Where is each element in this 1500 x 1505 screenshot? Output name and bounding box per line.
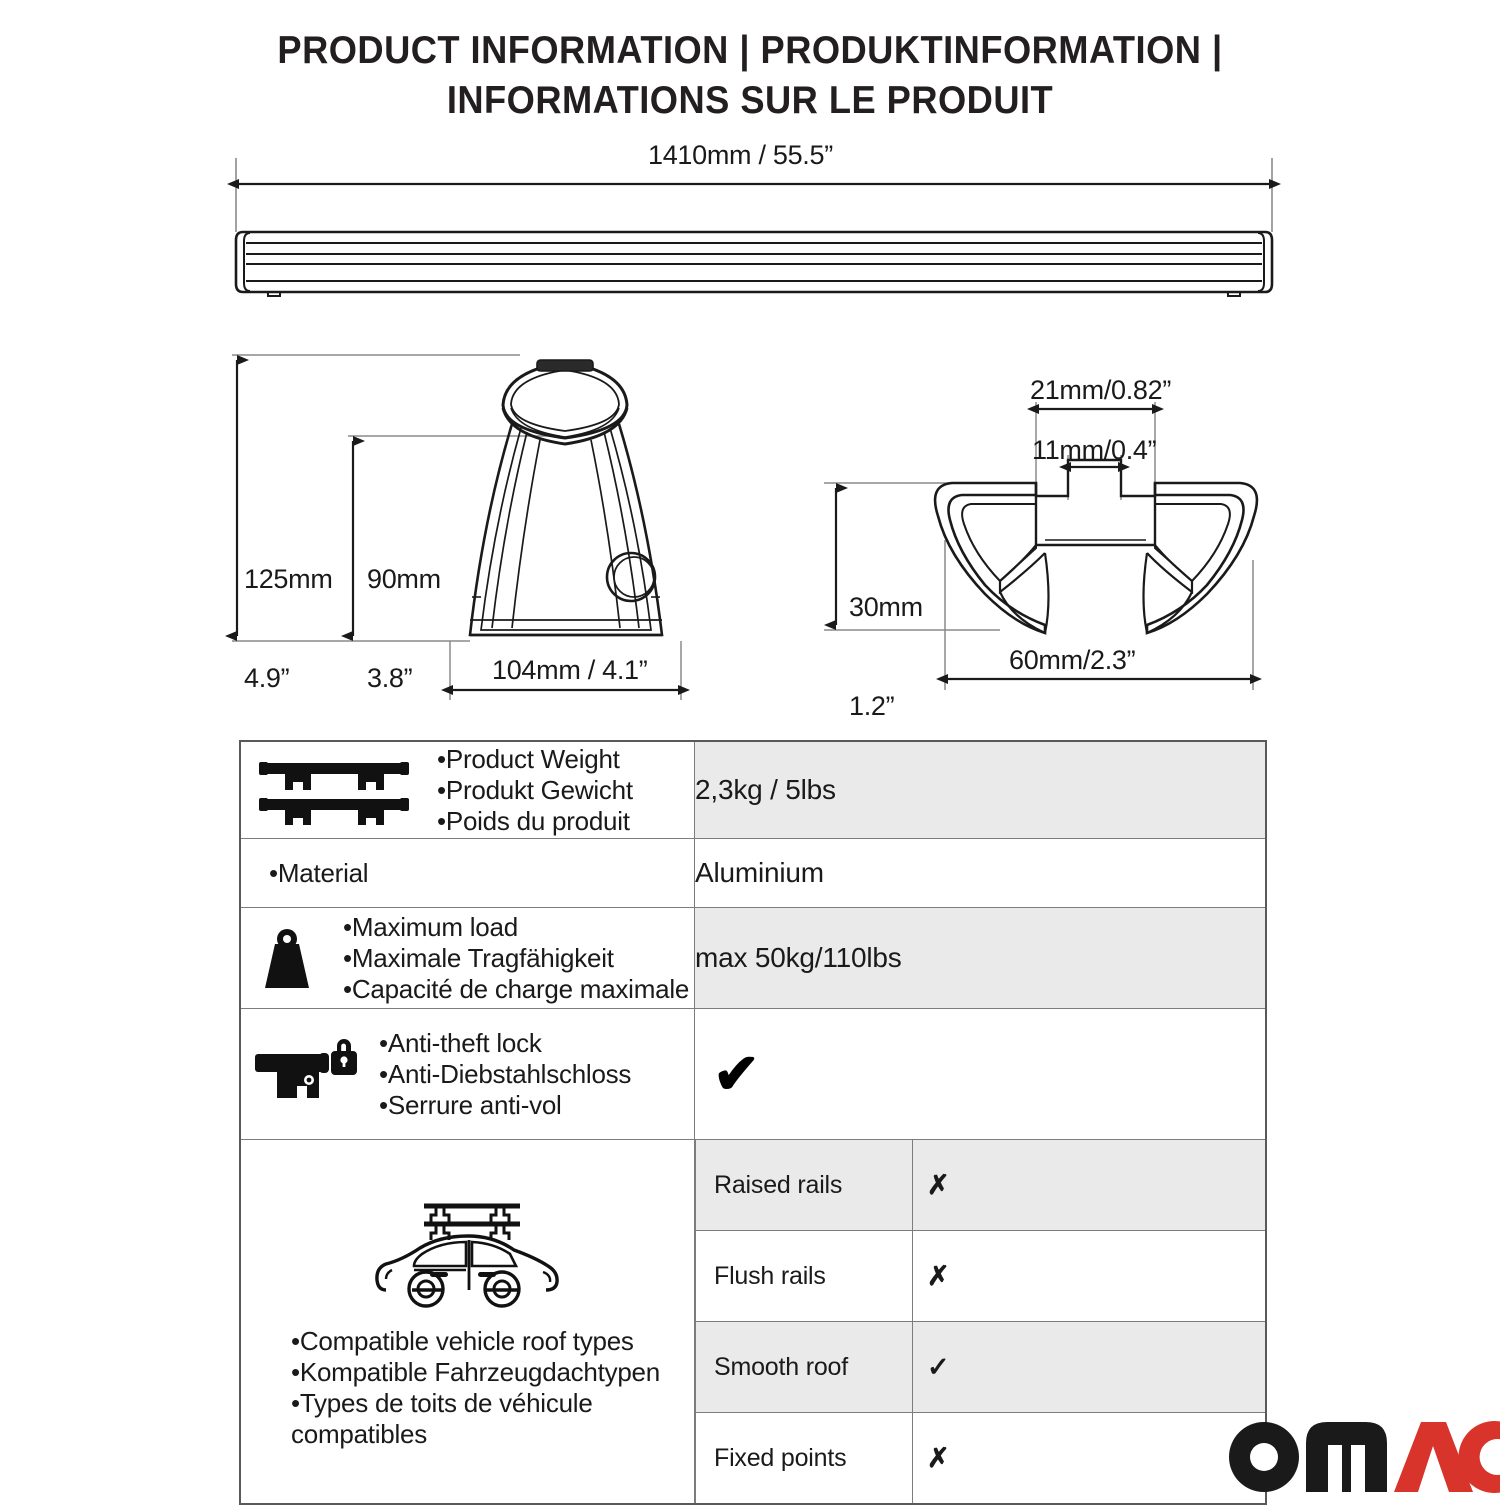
product-information-sheet: PRODUCT INFORMATION | PRODUKTINFORMATION…	[0, 0, 1500, 1500]
roof-type-name: Raised rails	[696, 1140, 913, 1231]
weight-value-cell: 2,3kg / 5lbs	[695, 741, 1267, 839]
profile-height-mm: 30mm	[849, 591, 923, 624]
table-row: •Maximum load •Maximale Tragfähigkeit •C…	[240, 908, 1266, 1009]
weight-label-de: •Produkt Gewicht	[437, 775, 633, 806]
maxload-label-de: •Maximale Tragfähigkeit	[343, 943, 689, 974]
row-label-cell-compat: •Compatible vehicle roof types •Kompatib…	[240, 1140, 695, 1505]
tower-width-label: 104mm / 4.1”	[492, 655, 647, 686]
tower-inner-height-mm: 90mm	[367, 563, 441, 596]
row-label-cell-lock: •Anti-theft lock •Anti-Diebstahlschloss …	[240, 1009, 695, 1140]
bar-length-label: 1410mm / 55.5”	[648, 140, 833, 171]
omac-logo-mark	[1228, 1421, 1500, 1493]
crossbar-side-view	[236, 232, 1272, 296]
maxload-label-en: •Maximum load	[343, 912, 689, 943]
maxload-value-cell: max 50kg/110lbs	[695, 908, 1267, 1009]
weight-labels: •Product Weight •Produkt Gewicht •Poids …	[437, 744, 633, 837]
table-row: •Product Weight •Produkt Gewicht •Poids …	[240, 741, 1266, 839]
compat-subtable-cell: Raised rails ✗ Flush rails ✗ Smooth roof…	[695, 1140, 1267, 1505]
roof-type-row-flush: Flush rails ✗	[696, 1231, 1266, 1322]
material-value-cell: Aluminium	[695, 839, 1267, 908]
row-label-cell-maxload: •Maximum load •Maximale Tragfähigkeit •C…	[240, 908, 695, 1009]
roof-type-name: Smooth roof	[696, 1322, 913, 1413]
roof-type-mark: ✗	[913, 1413, 1266, 1504]
row-label-cell-material: •Material	[240, 839, 695, 908]
profile-slot-outer-label: 21mm/0.82”	[1030, 375, 1171, 406]
car-with-rack-icon	[241, 1194, 694, 1316]
specifications-table: •Product Weight •Produkt Gewicht •Poids …	[239, 740, 1267, 1505]
omac-logo	[1228, 1424, 1500, 1490]
lock-labels: •Anti-theft lock •Anti-Diebstahlschloss …	[379, 1028, 631, 1121]
table-row: •Anti-theft lock •Anti-Diebstahlschloss …	[240, 1009, 1266, 1140]
weight-label-en: •Product Weight	[437, 744, 633, 775]
roof-type-table: Raised rails ✗ Flush rails ✗ Smooth roof…	[695, 1140, 1265, 1503]
tower-front-view	[470, 360, 662, 635]
lock-icon	[241, 1034, 369, 1114]
compat-labels: •Compatible vehicle roof types •Kompatib…	[241, 1326, 694, 1450]
maxload-labels: •Maximum load •Maximale Tragfähigkeit •C…	[343, 912, 689, 1005]
compat-label-de: •Kompatible Fahrzeugdachtypen	[291, 1357, 694, 1388]
lock-label-de: •Anti-Diebstahlschloss	[379, 1059, 631, 1090]
profile-width-label: 60mm/2.3”	[1009, 645, 1135, 676]
compat-label-fr: •Types de toits de véhicule	[291, 1388, 694, 1419]
tower-inner-height-label: 90mm 3.8”	[367, 497, 441, 761]
profile-height-in: 1.2”	[849, 690, 923, 723]
material-labels: •Material	[241, 858, 694, 889]
tower-total-height-in: 4.9”	[244, 662, 333, 695]
title-line-2: INFORMATIONS SUR LE PRODUIT	[53, 76, 1448, 126]
lock-value-cell: ✔	[695, 1009, 1267, 1140]
compat-label-fr-cont: compatibles	[291, 1419, 694, 1450]
table-row: •Compatible vehicle roof types •Kompatib…	[240, 1140, 1266, 1505]
lock-label-en: •Anti-theft lock	[379, 1028, 631, 1059]
roof-type-row-smooth: Smooth roof ✓	[696, 1322, 1266, 1413]
crossbars-icon	[241, 755, 427, 825]
profile-slot-inner-label: 11mm/0.4”	[1032, 435, 1156, 466]
roof-type-row-fixed: Fixed points ✗	[696, 1413, 1266, 1504]
lock-label-fr: •Serrure anti-vol	[379, 1090, 631, 1121]
roof-type-row-raised: Raised rails ✗	[696, 1140, 1266, 1231]
checkmark-icon: ✔	[695, 1046, 1265, 1102]
tower-inner-height-in: 3.8”	[367, 662, 441, 695]
tower-total-height-label: 125mm 4.9”	[244, 497, 333, 761]
weight-icon	[241, 924, 333, 992]
maxload-label-fr: •Capacité de charge maximale	[343, 974, 689, 1005]
roof-type-name: Flush rails	[696, 1231, 913, 1322]
tower-total-height-mm: 125mm	[244, 563, 333, 596]
roof-type-name: Fixed points	[696, 1413, 913, 1504]
weight-label-fr: •Poids du produit	[437, 806, 633, 837]
row-label-cell-weight: •Product Weight •Produkt Gewicht •Poids …	[240, 741, 695, 839]
title-line-1: PRODUCT INFORMATION | PRODUKTINFORMATION…	[53, 26, 1448, 76]
profile-cross-section	[935, 460, 1257, 633]
roof-type-mark: ✗	[913, 1140, 1266, 1231]
page-title: PRODUCT INFORMATION | PRODUKTINFORMATION…	[0, 26, 1500, 126]
roof-type-mark: ✗	[913, 1231, 1266, 1322]
roof-type-mark: ✓	[913, 1322, 1266, 1413]
table-row: •Material Aluminium	[240, 839, 1266, 908]
compat-label-en: •Compatible vehicle roof types	[291, 1326, 694, 1357]
material-label: •Material	[269, 858, 694, 889]
